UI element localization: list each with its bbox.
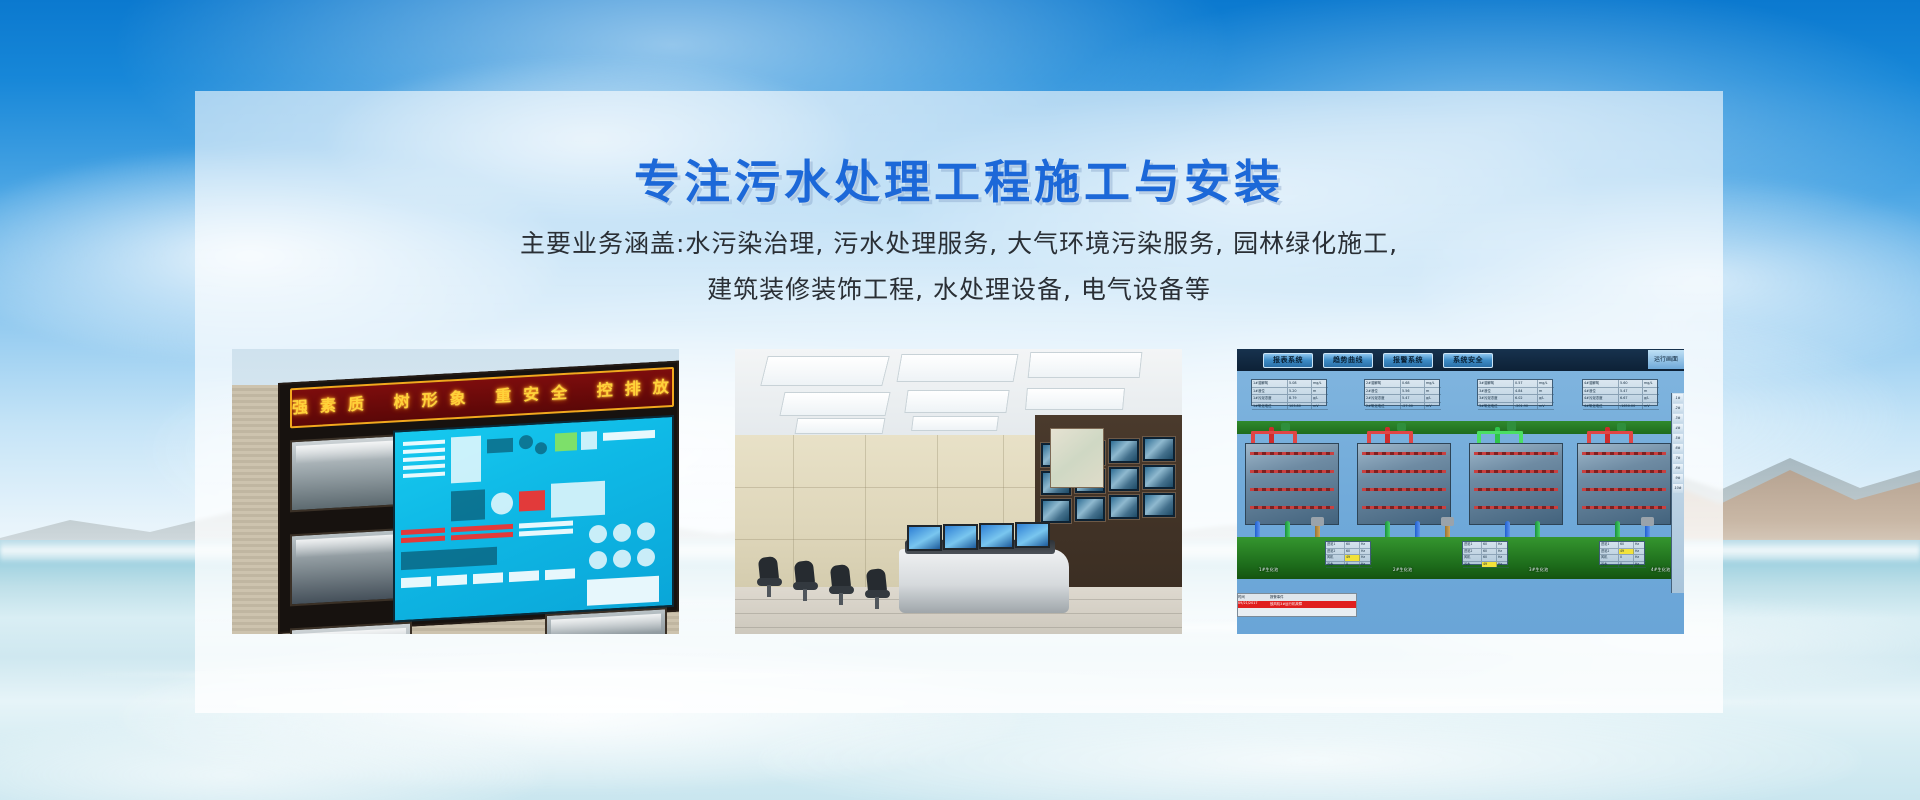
scada-process-diagram: 1#溶解氧5.08mg/L 1#液位5.20m 1#污泥浓度8.79g/L 1#…	[1237, 371, 1684, 634]
scada-zone-label: 2#生化池	[1393, 567, 1412, 573]
photo2-monitor	[981, 525, 1012, 547]
scada-tab-trends[interactable]: 趋势曲线	[1323, 353, 1373, 368]
subtitle-line-1: 主要业务涵盖:水污染治理, 污水处理服务, 大气环境污染服务, 园林绿化施工,	[195, 221, 1723, 267]
scada-alarm-col-time: 时间	[1238, 594, 1270, 601]
scada-aeration-basin	[1577, 443, 1671, 525]
scada-motor	[1507, 421, 1516, 431]
scada-zone-label: 1#生化池	[1259, 567, 1278, 573]
scada-tab-security[interactable]: 系统安全	[1443, 353, 1493, 368]
scada-alarm-col-desc: 报警事件	[1270, 594, 1356, 601]
scada-motor	[1617, 423, 1626, 431]
photo-gallery: 强素质 树形象 重安全 控排放	[232, 349, 1684, 634]
hero-card: 专注污水处理工程施工与安装 主要业务涵盖:水污染治理, 污水处理服务, 大气环境…	[195, 91, 1723, 713]
photo2-office-chair	[757, 557, 782, 597]
scada-valve	[1441, 517, 1454, 526]
scada-side-button[interactable]: 8#	[1673, 464, 1683, 473]
scada-side-button[interactable]: 7#	[1673, 454, 1683, 463]
photo2-monitor	[945, 526, 976, 548]
scada-toolbar: 报表系统 趋势曲线 报警系统 系统安全 运行画面	[1237, 349, 1684, 371]
scada-side-button[interactable]: 6#	[1673, 444, 1683, 453]
subtitle-line-2: 建筑装修装饰工程, 水处理设备, 电气设备等	[195, 267, 1723, 313]
scada-aerator-arm	[1477, 431, 1523, 434]
photo-outdoor-led-display-board[interactable]: 强素质 树形象 重安全 控排放	[232, 349, 679, 634]
scada-zone-label: 3#生化池	[1529, 567, 1548, 573]
scada-side-button[interactable]: 10#	[1673, 484, 1683, 493]
scada-tab-alarms[interactable]: 报警系统	[1383, 353, 1433, 368]
scada-aeration-basin	[1469, 443, 1563, 525]
scada-side-button[interactable]: 1#	[1673, 394, 1683, 403]
scada-side-buttons[interactable]: 1# 2# 3# 4# 5# 6# 7# 8# 9# 10#	[1671, 393, 1684, 593]
scada-aerator-arm	[1367, 431, 1413, 434]
scada-side-button[interactable]: 2#	[1673, 404, 1683, 413]
scada-data-panel: 3#溶解氧0.57mg/L 3#液位4.84m 3#污泥浓度6.02g/L 3#…	[1477, 379, 1553, 406]
photo2-office-chair	[829, 565, 854, 605]
scada-pump-panel: 进泥160Hz 进泥260Hz 风机60Hz 污水49Hz	[1462, 541, 1508, 565]
photo2-map-display	[1051, 429, 1103, 487]
scada-motor	[1397, 423, 1406, 431]
scada-valve	[1311, 517, 1324, 526]
scada-zone-label: 4#生化池	[1651, 567, 1670, 573]
photo1-scada-mimic-screen	[393, 415, 674, 623]
photo2-office-chair	[793, 561, 818, 601]
photo2-office-chair	[865, 569, 890, 609]
scada-valve	[1641, 517, 1654, 526]
scada-data-panel: 2#溶解氧0.68mg/L 2#液位5.56m 2#污泥浓度5.47g/L 2#…	[1364, 379, 1440, 406]
photo-scada-monitoring-screen[interactable]: 报表系统 趋势曲线 报警系统 系统安全 运行画面 1#溶解氧5.08mg/L 1…	[1237, 349, 1684, 634]
scada-data-panel: 4#溶解氧5.60mg/L 4#液位5.47m 4#污泥浓度6.67g/L 4#…	[1582, 379, 1658, 406]
photo1-camera-feed	[290, 622, 412, 634]
scada-side-button[interactable]: 5#	[1673, 434, 1683, 443]
scada-aerator-arm	[1587, 431, 1633, 434]
page-subtitle: 主要业务涵盖:水污染治理, 污水处理服务, 大气环境污染服务, 园林绿化施工, …	[195, 221, 1723, 314]
scada-side-button[interactable]: 9#	[1673, 474, 1683, 483]
page-title: 专注污水处理工程施工与安装	[195, 146, 1723, 212]
scada-aerator-arm	[1251, 431, 1297, 434]
scada-tab-runtime-view[interactable]: 运行画面	[1648, 350, 1684, 369]
scada-side-button[interactable]: 4#	[1673, 424, 1683, 433]
scada-side-button[interactable]: 3#	[1673, 414, 1683, 423]
photo1-display-frame: 强素质 树形象 重安全 控排放	[278, 361, 679, 634]
scada-aeration-basin	[1245, 443, 1339, 525]
photo2-monitor	[909, 527, 940, 549]
scada-tab-reports[interactable]: 报表系统	[1263, 353, 1313, 368]
scada-pump-panel: 进泥160Hz 进泥249Hz 风机0Hz 污水0Hz	[1599, 541, 1645, 565]
photo2-monitor	[1017, 524, 1048, 546]
photo-monitoring-control-room[interactable]	[735, 349, 1182, 634]
scada-alarm-time: 09/21/2017	[1238, 601, 1270, 608]
scada-data-panel: 1#溶解氧5.08mg/L 1#液位5.20m 1#污泥浓度8.79g/L 1#…	[1251, 379, 1327, 406]
scada-alarm-list: 时间 报警事件 09/21/2017 鼓风机3#运行机故障	[1237, 593, 1357, 617]
scada-alarm-desc: 鼓风机3#运行机故障	[1270, 601, 1356, 608]
scada-aeration-basin	[1357, 443, 1451, 525]
scada-pump-panel: 进泥160Hz 进泥260Hz 风机49Hz 污水0Hz	[1325, 541, 1371, 565]
scada-motor	[1281, 423, 1290, 431]
photo2-console-desk	[899, 549, 1069, 613]
